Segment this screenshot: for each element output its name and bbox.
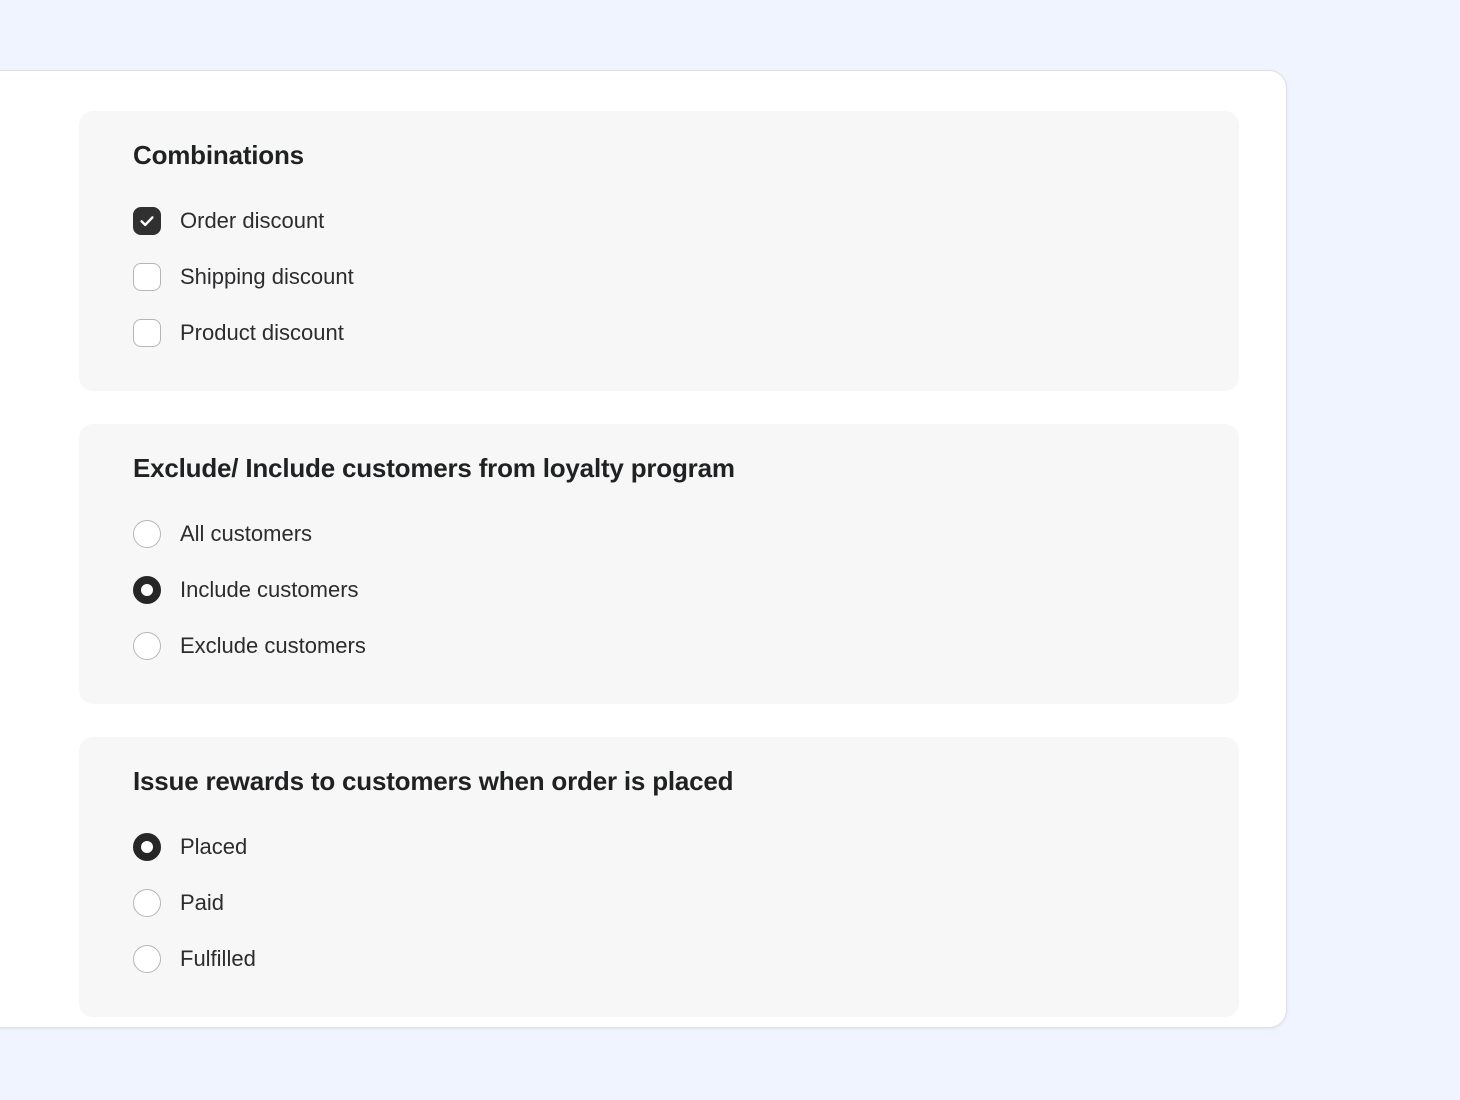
checkbox-product-discount[interactable] bbox=[133, 319, 161, 347]
radio-exclude-customers[interactable] bbox=[133, 632, 161, 660]
panel-title-issue-rewards: Issue rewards to customers when order is… bbox=[79, 767, 1239, 797]
radio-row-paid[interactable]: Paid bbox=[133, 875, 1185, 931]
radio-label-paid: Paid bbox=[180, 892, 224, 914]
radio-placed[interactable] bbox=[133, 833, 161, 861]
radio-row-placed[interactable]: Placed bbox=[133, 819, 1185, 875]
checkbox-row-shipping-discount[interactable]: Shipping discount bbox=[133, 249, 1185, 305]
checkbox-label-shipping-discount: Shipping discount bbox=[180, 266, 354, 288]
panel-loyalty-customers: Exclude/ Include customers from loyalty … bbox=[79, 424, 1239, 704]
option-group-loyalty-customers: All customers Include customers Exclude … bbox=[79, 506, 1239, 674]
radio-label-placed: Placed bbox=[180, 836, 247, 858]
radio-label-exclude-customers: Exclude customers bbox=[180, 635, 366, 657]
radio-paid[interactable] bbox=[133, 889, 161, 917]
checkbox-label-order-discount: Order discount bbox=[180, 210, 324, 232]
panel-title-combinations: Combinations bbox=[79, 141, 1239, 171]
option-group-issue-rewards: Placed Paid Fulfilled bbox=[79, 819, 1239, 987]
radio-include-customers[interactable] bbox=[133, 576, 161, 604]
radio-row-exclude-customers[interactable]: Exclude customers bbox=[133, 618, 1185, 674]
panel-title-loyalty-customers: Exclude/ Include customers from loyalty … bbox=[79, 454, 1239, 484]
radio-row-include-customers[interactable]: Include customers bbox=[133, 562, 1185, 618]
radio-label-include-customers: Include customers bbox=[180, 579, 359, 601]
radio-all-customers[interactable] bbox=[133, 520, 161, 548]
radio-row-all-customers[interactable]: All customers bbox=[133, 506, 1185, 562]
panel-combinations: Combinations Order discount bbox=[79, 111, 1239, 391]
checkbox-row-product-discount[interactable]: Product discount bbox=[133, 305, 1185, 361]
settings-card: Combinations Order discount bbox=[0, 70, 1287, 1028]
settings-panels-container: Combinations Order discount bbox=[79, 111, 1239, 1017]
option-group-combinations: Order discount Shipping discount bbox=[79, 193, 1239, 361]
panel-issue-rewards: Issue rewards to customers when order is… bbox=[79, 737, 1239, 1017]
radio-label-fulfilled: Fulfilled bbox=[180, 948, 256, 970]
radio-row-fulfilled[interactable]: Fulfilled bbox=[133, 931, 1185, 987]
checkbox-order-discount[interactable] bbox=[133, 207, 161, 235]
checkbox-row-order-discount[interactable]: Order discount bbox=[133, 193, 1185, 249]
checkbox-shipping-discount[interactable] bbox=[133, 263, 161, 291]
radio-label-all-customers: All customers bbox=[180, 523, 312, 545]
radio-fulfilled[interactable] bbox=[133, 945, 161, 973]
checkbox-label-product-discount: Product discount bbox=[180, 322, 344, 344]
